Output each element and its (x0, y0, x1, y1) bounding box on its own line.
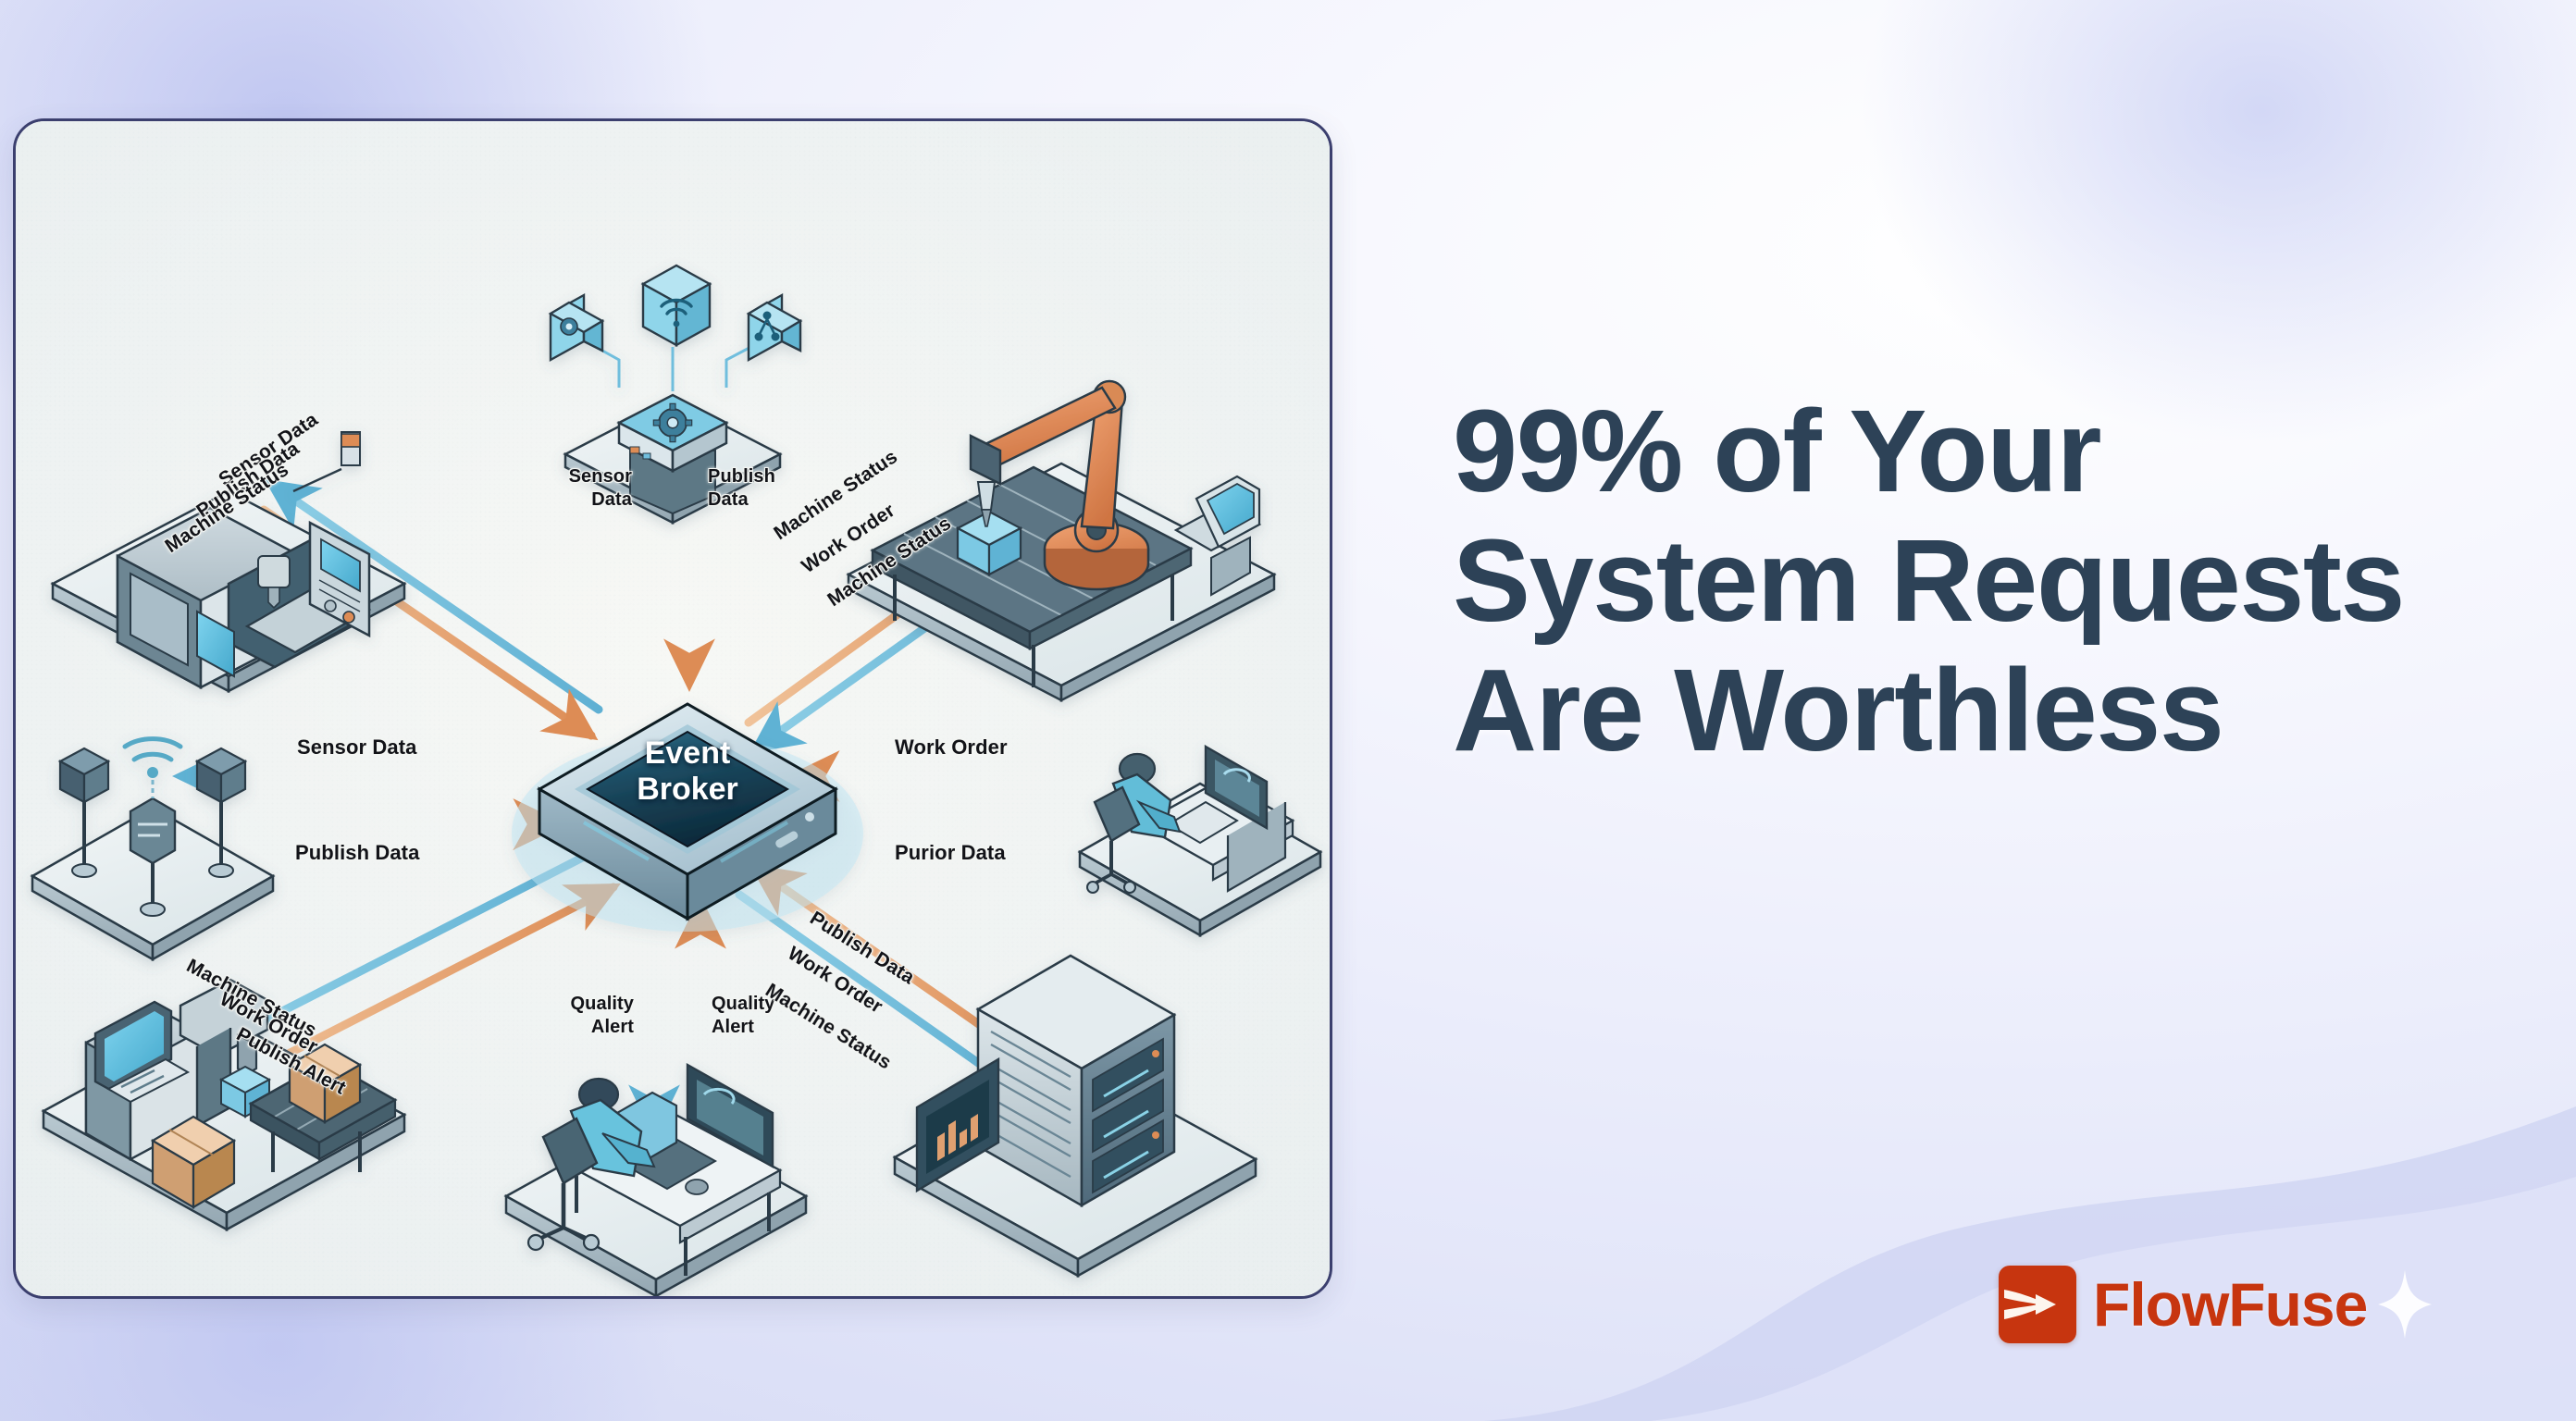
gateway-card-network (749, 295, 800, 360)
event-broker-diagram: Event Broker Sensor Data Publish Data Ma… (16, 121, 1330, 1296)
node-robot-arm (848, 381, 1274, 700)
flowfuse-wordmark: FlowFuse (2093, 1274, 2367, 1335)
node-sensor-cluster (32, 739, 273, 959)
event-broker-hub (512, 704, 863, 932)
page-title: 99% of Your System Requests Are Worthles… (1453, 387, 2554, 775)
headline-line-3: Are Worthless (1453, 646, 2554, 775)
banner-stage: Event Broker Sensor Data Publish Data Ma… (0, 0, 2576, 1421)
diagram-card: Event Broker Sensor Data Publish Data Ma… (13, 118, 1332, 1299)
wifi-icon (125, 739, 180, 760)
gateway-card-wifi (643, 266, 710, 345)
node-packaging-line (43, 980, 404, 1229)
sparkle-icon (2378, 1270, 2432, 1339)
flowfuse-logo-mark (1999, 1266, 2076, 1343)
node-analyst-desk (506, 1065, 806, 1296)
gateway-card-gear (551, 295, 602, 360)
headline-line-2: System Requests (1453, 516, 2554, 646)
node-cnc-machine (53, 432, 404, 691)
decorative-wave (1484, 995, 2576, 1421)
headline-line-1: 99% of Your (1453, 387, 2554, 516)
flowfuse-logo[interactable]: FlowFuse (1999, 1266, 2432, 1343)
node-iot-gateway (551, 266, 800, 523)
